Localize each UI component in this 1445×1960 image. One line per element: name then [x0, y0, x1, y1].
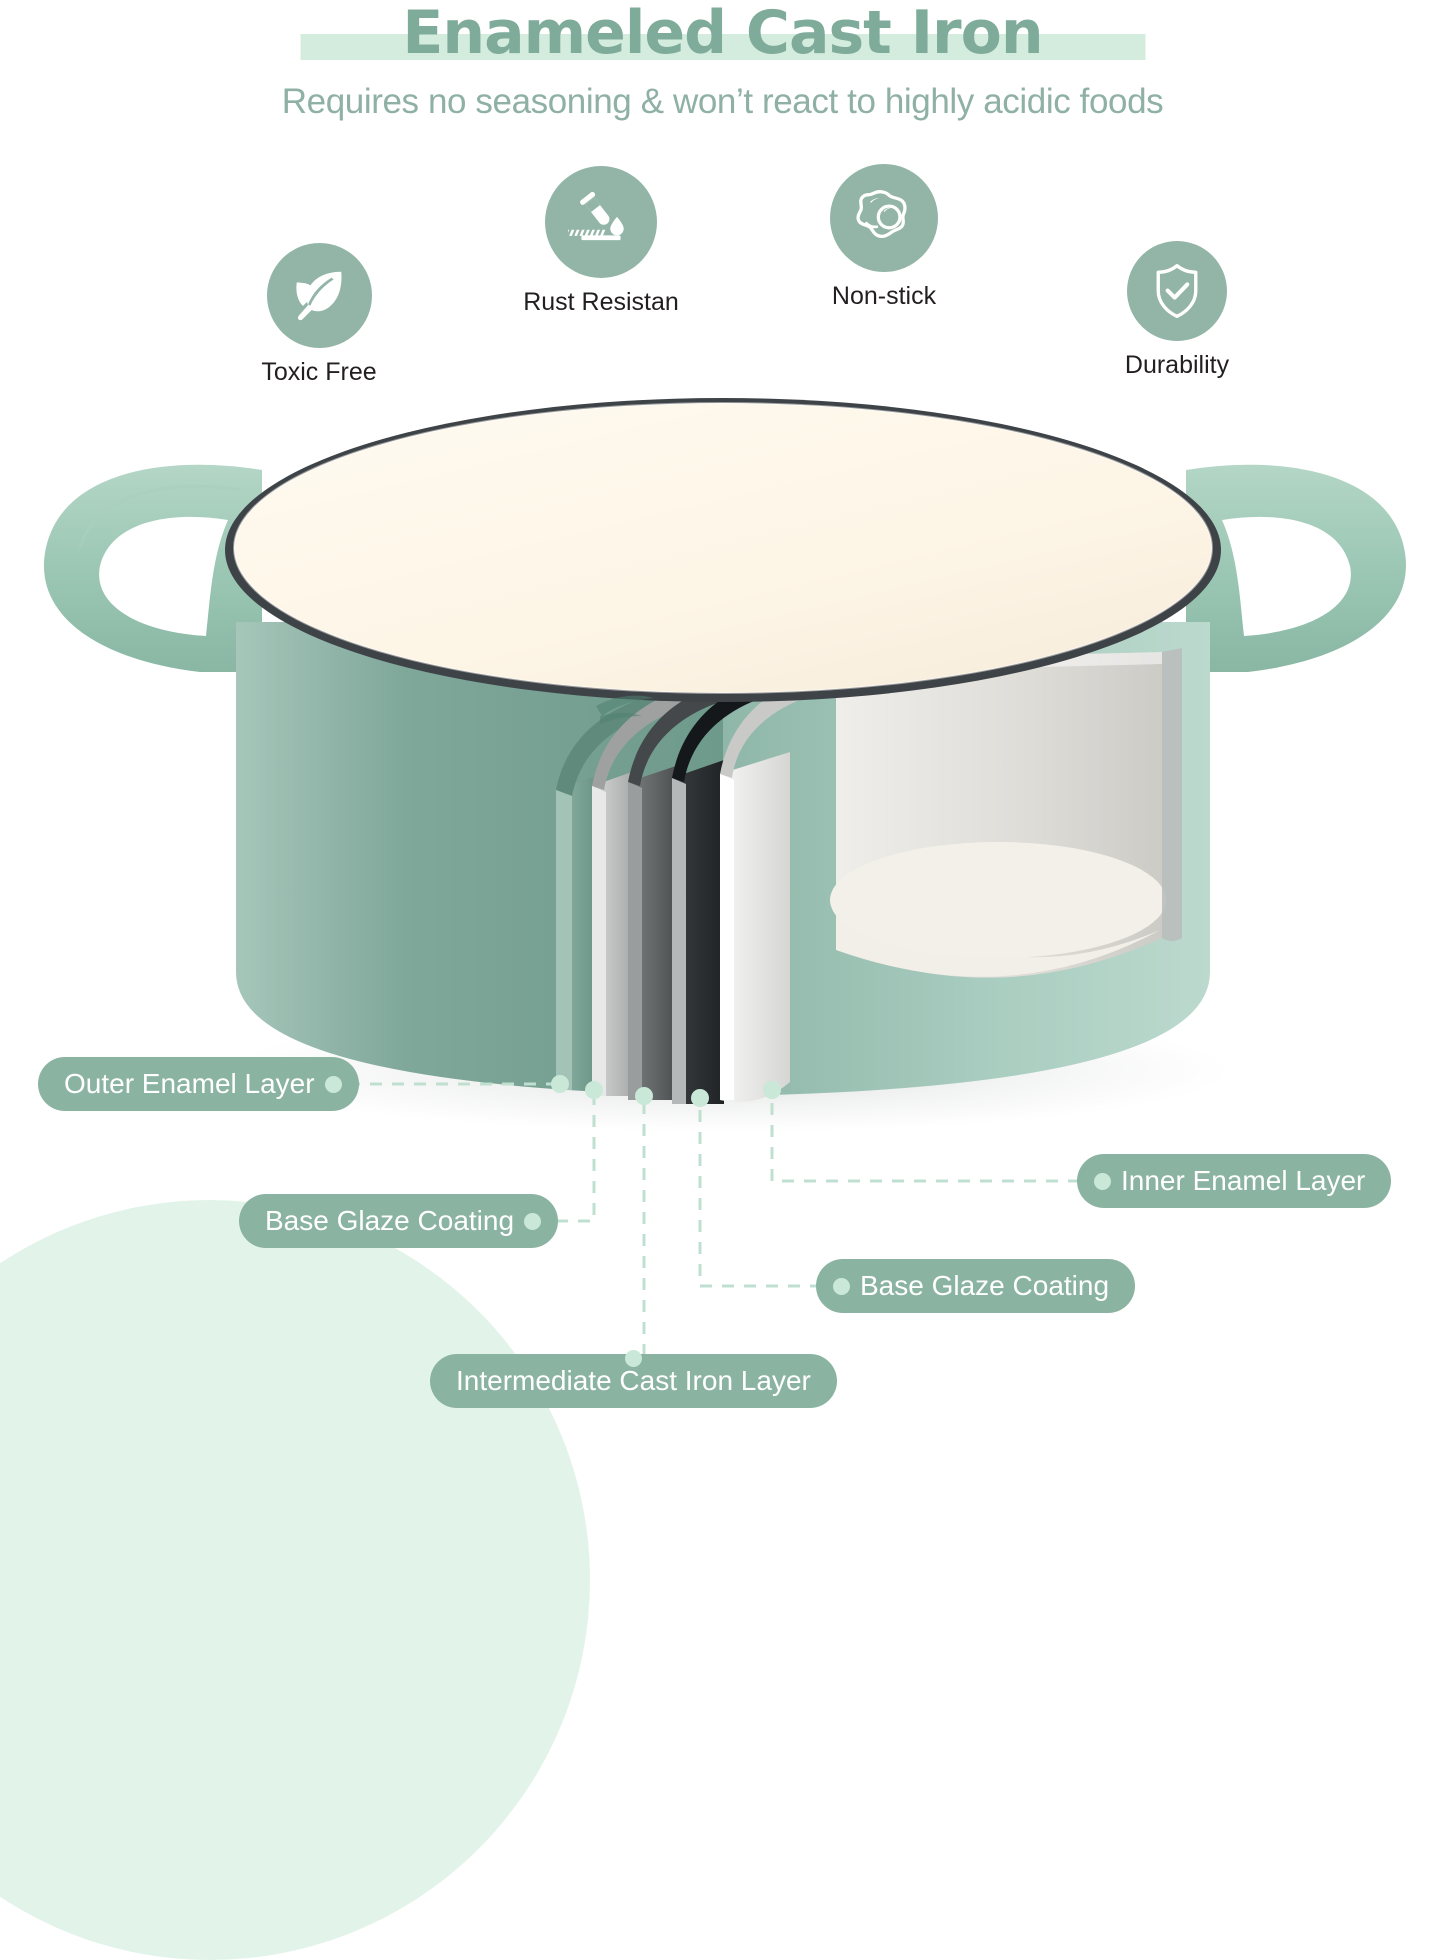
callout-anchor-dot: [325, 1076, 342, 1093]
callout-base-glaze-coating-1[interactable]: Base Glaze Coating: [239, 1194, 558, 1248]
connector-dot-iron: [635, 1087, 653, 1105]
callout-connectors: [0, 0, 1445, 1458]
callout-anchor-dot: [1094, 1173, 1111, 1190]
callout-label: Base Glaze Coating: [860, 1270, 1109, 1302]
callout-anchor-dot: [524, 1213, 541, 1230]
callout-inner-enamel-layer[interactable]: Inner Enamel Layer: [1077, 1154, 1391, 1208]
connector-dot-base1: [585, 1081, 603, 1099]
callout-outer-enamel-layer[interactable]: Outer Enamel Layer: [38, 1057, 359, 1111]
callout-label: Base Glaze Coating: [265, 1205, 514, 1237]
callout-base-glaze-coating-2[interactable]: Base Glaze Coating: [816, 1259, 1135, 1313]
connector-dot-inner: [763, 1081, 781, 1099]
callout-label: Inner Enamel Layer: [1121, 1165, 1365, 1197]
callout-label: Outer Enamel Layer: [64, 1068, 315, 1100]
connector-dot-outer: [551, 1075, 569, 1093]
callout-intermediate-cast-iron-layer[interactable]: Intermediate Cast Iron Layer: [430, 1354, 837, 1408]
callout-label: Intermediate Cast Iron Layer: [456, 1365, 811, 1397]
callout-anchor-dot: [833, 1278, 850, 1295]
connector-dot-base2: [691, 1089, 709, 1107]
